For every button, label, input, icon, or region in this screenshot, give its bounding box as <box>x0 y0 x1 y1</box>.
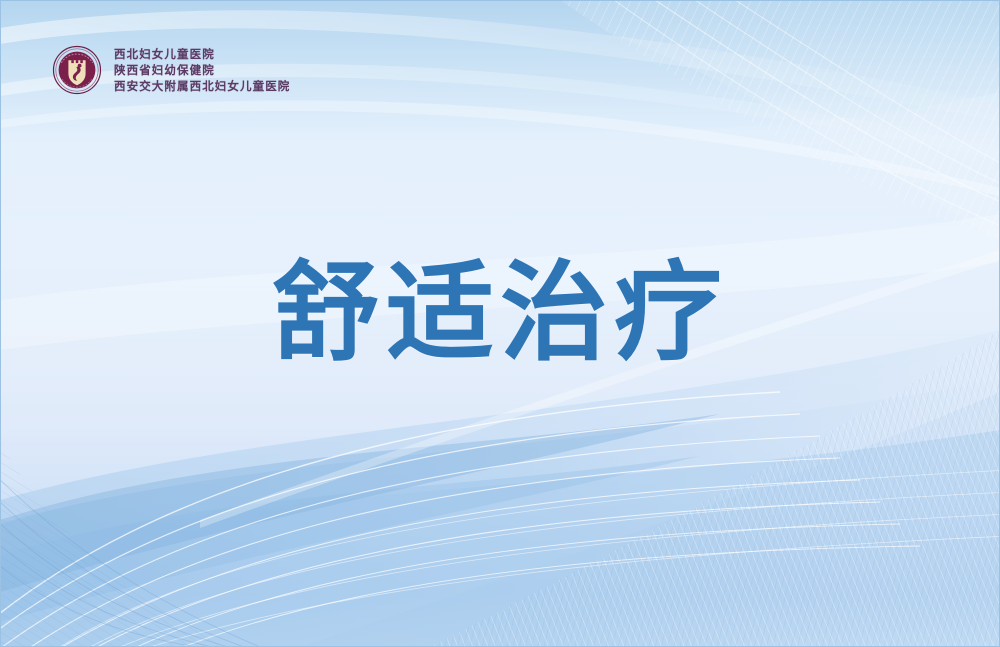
presentation-slide: 西北妇女儿童医院 陕西省妇幼保健院 西安交大附属西北妇女儿童医院 舒适治疗 <box>0 0 1000 647</box>
org-name-line-3: 西安交大附属西北妇女儿童医院 <box>114 80 290 93</box>
hospital-logo-lockup: 西北妇女儿童医院 陕西省妇幼保健院 西安交大附属西北妇女儿童医院 <box>52 45 290 95</box>
slide-title: 舒适治疗 <box>272 255 728 373</box>
title-area: 舒适治疗 <box>0 255 1000 373</box>
org-name-line-2: 陕西省妇幼保健院 <box>114 64 290 77</box>
hospital-emblem-icon <box>52 45 102 95</box>
organization-names: 西北妇女儿童医院 陕西省妇幼保健院 西安交大附属西北妇女儿童医院 <box>114 47 290 93</box>
org-name-line-1: 西北妇女儿童医院 <box>114 48 290 61</box>
